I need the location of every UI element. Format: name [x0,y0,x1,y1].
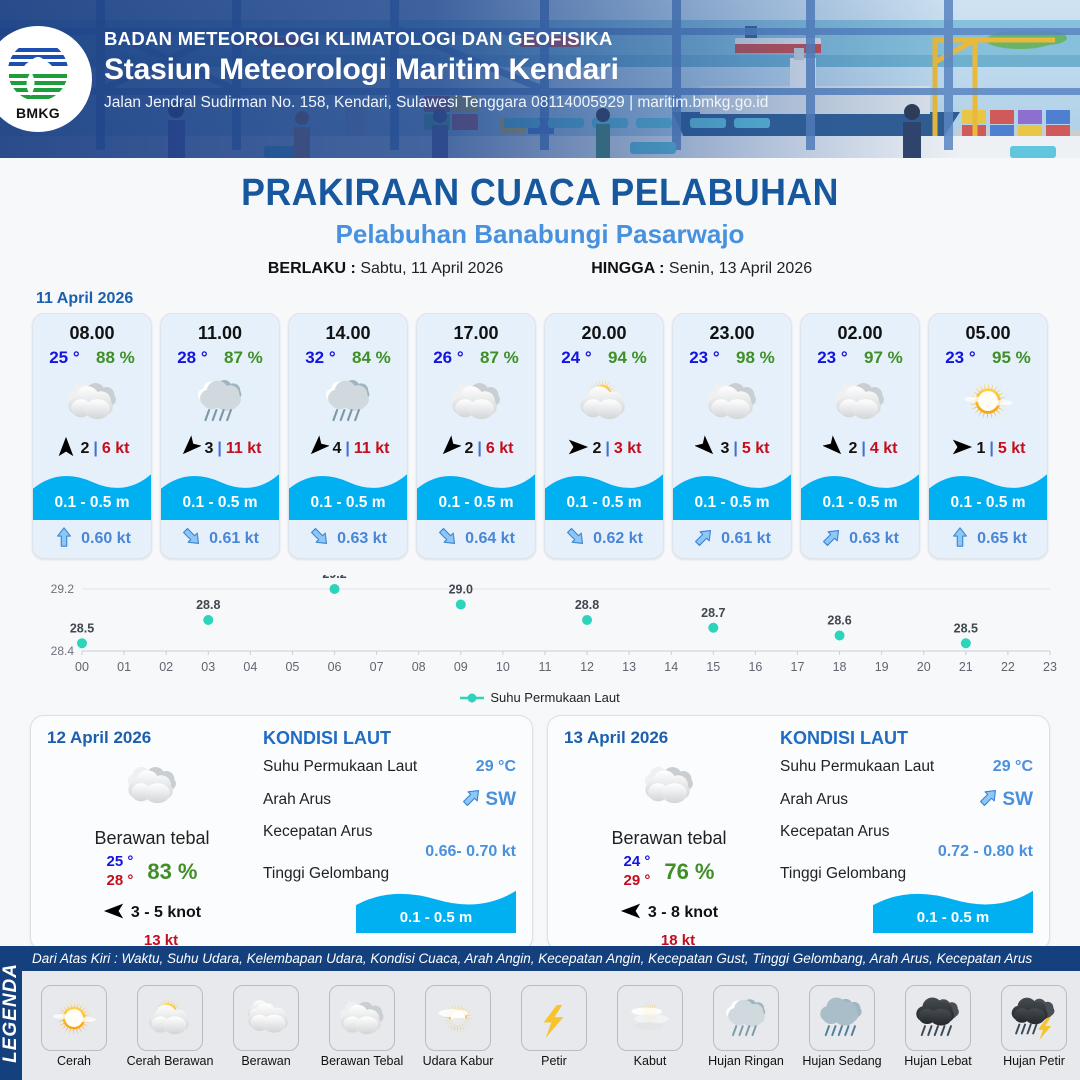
hourly-forecast-card[interactable]: 17.00 26 ° 87 % 2 | 6 kt 0.1 - 0.5 m 0.6… [416,313,536,559]
daily-wind-speed: 3 - 5 knot [131,904,201,922]
sea-row-wave: Tinggi Gelombang 0.1 - 0.5 m [263,865,516,933]
chart-x-tick-label: 22 [1001,660,1015,674]
card-wind-row: 1 | 5 kt [929,432,1047,466]
chart-data-point [708,623,718,633]
legend-item-label: Kabut [604,1054,696,1068]
hingga-value: Senin, 13 April 2026 [669,260,812,277]
card-wind-row: 2 | 6 kt [33,432,151,466]
current-direction-arrow-icon [949,525,971,549]
kabut-icon [624,992,676,1044]
card-weather-icon-slot [545,370,663,432]
card-current-row: 0.65 kt [929,520,1047,558]
legend-item: Cerah Berawan [124,985,216,1068]
daily-wind-arrow-slot [103,899,125,928]
card-current-speed: 0.63 kt [337,530,387,548]
petir-icon [528,992,580,1044]
hourly-forecast-card[interactable]: 23.00 23 ° 98 % 3 | 5 kt 0.1 - 0.5 m 0.6… [672,313,792,559]
sea-label-sst: Suhu Permukaan Laut [263,758,417,776]
legend-bar: LEGENDA Dari Atas Kiri : Waktu, Suhu Uda… [0,946,1080,1080]
sea-row-current-dir: Arah Arus SW [780,785,1033,814]
legend-item: Hujan Petir [988,985,1080,1068]
daily-forecast-panel[interactable]: 13 April 2026 Berawan tebal 24 ° 29 ° 76… [547,715,1050,951]
legend-icon-box [425,985,491,1051]
berawan-tebal-icon [123,756,181,814]
card-humidity: 88 % [96,348,135,368]
daily-weather-icon-slot [564,754,774,816]
card-wind-speed: 1 [977,440,986,458]
card-current-row: 0.63 kt [801,520,919,558]
card-wave-block: 0.1 - 0.5 m [801,466,919,520]
legend-icon-box [329,985,395,1051]
chart-data-point [456,600,466,610]
card-wave-block: 0.1 - 0.5 m [289,466,407,520]
card-current-speed: 0.61 kt [721,530,771,548]
card-wind-speed: 3 [205,440,214,458]
chart-data-point [203,615,213,625]
chart-x-tick-label: 10 [496,660,510,674]
card-weather-icon-slot [161,370,279,432]
sea-label-current-dir: Arah Arus [780,791,848,809]
chart-x-tick-label: 16 [748,660,762,674]
card-wind-separator: | [345,440,349,458]
chart-data-point [330,584,340,594]
card-weather-icon-slot [289,370,407,432]
legend-icon-box [713,985,779,1051]
berlaku-label: BERLAKU : [268,260,356,277]
berawan-tebal-icon [336,992,388,1044]
forecast-title-block: PRAKIRAAN CUACA PELABUHAN Pelabuhan Bana… [0,158,1080,278]
card-temperature: 23 ° [689,348,719,368]
hujan-lebat-icon [912,992,964,1044]
current-direction-arrow-icon [565,525,587,549]
chart-x-tick-label: 03 [201,660,215,674]
hujan-petir-icon [1008,992,1060,1044]
sea-row-sst: Suhu Permukaan Laut 29 °C [263,758,516,776]
card-gust: 11 kt [354,440,390,458]
legend-item-label: Cerah [28,1054,120,1068]
card-current-arrow-slot [565,525,587,554]
hourly-forecast-card[interactable]: 11.00 28 ° 87 % 3 | 11 kt 0.1 - 0.5 m 0.… [160,313,280,559]
page-subtitle: Pelabuhan Banabungi Pasarwajo [0,219,1080,250]
card-wave-height: 0.1 - 0.5 m [673,494,791,512]
sea-row-sst: Suhu Permukaan Laut 29 °C [780,758,1033,776]
wind-direction-arrow-icon [695,435,717,459]
wind-direction-arrow-icon [307,435,329,459]
card-wave-height: 0.1 - 0.5 m [801,494,919,512]
chart-point-label: 28.8 [575,598,599,612]
card-gust: 3 kt [614,440,642,458]
daily-panel-right: KONDISI LAUT Suhu Permukaan Laut 29 °C A… [774,728,1033,940]
sea-wave-block: 0.1 - 0.5 m [873,885,1033,933]
chart-legend-marker-icon [460,693,484,703]
wind-direction-arrow-icon [103,899,125,923]
card-wind-separator: | [477,440,481,458]
berawan-tebal-icon [640,756,698,814]
card-wind-row: 4 | 11 kt [289,432,407,466]
legend-icon-box [617,985,683,1051]
card-wave-height: 0.1 - 0.5 m [33,494,151,512]
sea-label-current-speed: Kecepatan Arus [263,823,516,841]
card-time: 23.00 [673,314,791,344]
hourly-forecast-card[interactable]: 05.00 23 ° 95 % 1 | 5 kt 0.1 - 0.5 m 0.6… [928,313,1048,559]
card-temperature: 25 ° [49,348,79,368]
legend-item-label: Udara Kabur [412,1054,504,1068]
sea-row-current-speed: Kecepatan Arus 0.72 - 0.80 kt [780,823,1033,861]
sea-current-arrow-slot [461,785,483,814]
card-wind-separator: | [861,440,865,458]
card-current-row: 0.61 kt [673,520,791,558]
card-current-speed: 0.65 kt [977,530,1027,548]
card-wind-arrow-slot [179,435,201,464]
chart-x-tick-label: 23 [1043,660,1057,674]
daily-temps: 24 ° 29 ° [623,853,650,891]
card-humidity: 87 % [224,348,263,368]
berawan-tebal-icon [447,372,505,430]
legend-item: Hujan Sedang [796,985,888,1068]
card-current-arrow-slot [693,525,715,554]
hourly-forecast-card[interactable]: 14.00 32 ° 84 % 4 | 11 kt 0.1 - 0.5 m 0.… [288,313,408,559]
current-direction-arrow-icon [978,785,1000,809]
sea-label-sst: Suhu Permukaan Laut [780,758,934,776]
chart-x-tick-label: 15 [706,660,720,674]
card-wind-arrow-slot [55,435,77,464]
card-time: 05.00 [929,314,1047,344]
chart-legend: Suhu Permukaan Laut [0,690,1080,705]
legend-items-row: Cerah Cerah Berawan Berawan Berawan Teba… [22,971,1080,1080]
cerah-icon [959,372,1017,430]
chart-y-tick-label: 28.4 [51,644,75,658]
chart-x-tick-label: 00 [75,660,89,674]
wind-direction-arrow-icon [439,435,461,459]
card-weather-icon-slot [33,370,151,432]
card-wind-separator: | [217,440,221,458]
sst-chart: 28.429.200010203040506070809101112131415… [20,575,1060,685]
sea-condition-title: KONDISI LAUT [263,728,516,749]
daily-panel-right: KONDISI LAUT Suhu Permukaan Laut 29 °C A… [257,728,516,940]
card-wave-height: 0.1 - 0.5 m [417,494,535,512]
current-direction-arrow-icon [181,525,203,549]
card-humidity: 94 % [608,348,647,368]
current-direction-arrow-icon [309,525,331,549]
card-wind-separator: | [733,440,737,458]
card-wind-row: 2 | 3 kt [545,432,663,466]
chart-x-tick-label: 02 [159,660,173,674]
legend-item: Berawan [220,985,312,1068]
hourly-forecast-card[interactable]: 02.00 23 ° 97 % 2 | 4 kt 0.1 - 0.5 m 0.6… [800,313,920,559]
chart-x-tick-label: 18 [833,660,847,674]
chart-x-tick-label: 14 [664,660,678,674]
hujan-ringan-icon [191,372,249,430]
card-weather-icon-slot [673,370,791,432]
card-gust: 11 kt [226,440,262,458]
daily-date: 12 April 2026 [47,728,257,748]
card-wave-block: 0.1 - 0.5 m [673,466,791,520]
card-current-speed: 0.63 kt [849,530,899,548]
card-current-row: 0.62 kt [545,520,663,558]
card-wave-height: 0.1 - 0.5 m [545,494,663,512]
legend-item-label: Hujan Lebat [892,1054,984,1068]
daily-temp-max: 28 ° [106,872,133,891]
sea-row-current-dir: Arah Arus SW [263,785,516,814]
hourly-forecast-card[interactable]: 20.00 24 ° 94 % 2 | 3 kt 0.1 - 0.5 m 0.6… [544,313,664,559]
sea-value-current-speed: 0.72 - 0.80 kt [780,843,1033,861]
sea-value-current-dir: SW [485,789,516,811]
current-direction-arrow-icon [53,525,75,549]
chart-point-label: 28.6 [827,614,851,628]
sea-value-sst: 29 °C [476,758,516,776]
card-wind-arrow-slot [951,435,973,464]
sea-label-wave: Tinggi Gelombang [780,865,1033,883]
berawan-icon [240,992,292,1044]
card-wind-speed: 2 [593,440,602,458]
daily-panel-left: 12 April 2026 Berawan tebal 25 ° 28 ° 83… [47,728,257,940]
chart-x-tick-label: 09 [454,660,468,674]
card-gust: 6 kt [486,440,514,458]
legend-item-label: Hujan Petir [988,1054,1080,1068]
card-wind-separator: | [93,440,97,458]
card-wind-separator: | [605,440,609,458]
sea-wave-block: 0.1 - 0.5 m [356,885,516,933]
page-header: BMKG BADAN METEOROLOGI KLIMATOLOGI DAN G… [0,0,1080,158]
card-temperature: 24 ° [561,348,591,368]
card-time: 14.00 [289,314,407,344]
legend-side-label: LEGENDA [0,946,22,1080]
legend-item: Petir [508,985,600,1068]
udara-kabur-icon [432,992,484,1044]
hourly-forecast-card[interactable]: 08.00 25 ° 88 % 2 | 6 kt 0.1 - 0.5 m 0.6… [32,313,152,559]
berawan-tebal-icon [703,372,761,430]
card-current-arrow-slot [53,525,75,554]
card-weather-icon-slot [417,370,535,432]
legend-icon-box [137,985,203,1051]
legend-item-label: Berawan Tebal [316,1054,408,1068]
card-gust: 6 kt [102,440,130,458]
card-wind-arrow-slot [567,435,589,464]
card-wind-speed: 3 [721,440,730,458]
card-wind-speed: 4 [333,440,342,458]
legend-icon-box [905,985,971,1051]
cerah-berawan-icon [575,372,633,430]
card-temperature: 32 ° [305,348,335,368]
card-wind-row: 3 | 11 kt [161,432,279,466]
daily-wind-speed: 3 - 8 knot [648,904,718,922]
legend-item: Berawan Tebal [316,985,408,1068]
chart-x-tick-label: 13 [622,660,636,674]
current-direction-arrow-icon [461,785,483,809]
card-wind-arrow-slot [695,435,717,464]
card-gust: 5 kt [998,440,1026,458]
chart-data-point [961,638,971,648]
card-wave-block: 0.1 - 0.5 m [545,466,663,520]
card-wave-block: 0.1 - 0.5 m [417,466,535,520]
card-wave-block: 0.1 - 0.5 m [929,466,1047,520]
card-wind-arrow-slot [823,435,845,464]
card-current-row: 0.63 kt [289,520,407,558]
validity-row: BERLAKU : Sabtu, 11 April 2026 HINGGA : … [0,260,1080,278]
card-temperature: 28 ° [177,348,207,368]
card-gust: 4 kt [870,440,898,458]
chart-x-tick-label: 17 [791,660,805,674]
legend-icon-box [521,985,587,1051]
daily-humidity: 76 % [664,859,714,885]
chart-x-tick-label: 04 [243,660,257,674]
chart-point-label: 29.2 [322,575,346,581]
daily-date: 13 April 2026 [564,728,774,748]
card-humidity: 84 % [352,348,391,368]
berlaku-value: Sabtu, 11 April 2026 [360,260,503,277]
card-current-row: 0.60 kt [33,520,151,558]
card-wave-height: 0.1 - 0.5 m [929,494,1047,512]
chart-x-tick-label: 21 [959,660,973,674]
card-wind-speed: 2 [849,440,858,458]
card-time: 08.00 [33,314,151,344]
card-humidity: 98 % [736,348,775,368]
chart-x-tick-label: 07 [370,660,384,674]
chart-x-tick-label: 05 [285,660,299,674]
page-title: PRAKIRAAN CUACA PELABUHAN [32,172,1047,215]
card-gust: 5 kt [742,440,770,458]
daily-panels-row: 12 April 2026 Berawan tebal 25 ° 28 ° 83… [0,705,1080,951]
legend-note: Dari Atas Kiri : Waktu, Suhu Udara, Kele… [22,946,1080,971]
chart-data-point [582,615,592,625]
card-current-row: 0.64 kt [417,520,535,558]
legend-item-label: Petir [508,1054,600,1068]
card-wind-speed: 2 [465,440,474,458]
chart-x-tick-label: 11 [538,660,551,674]
card-wind-arrow-slot [307,435,329,464]
card-current-speed: 0.60 kt [81,530,131,548]
hujan-ringan-icon [319,372,377,430]
card-weather-icon-slot [801,370,919,432]
station-name: Stasiun Meteorologi Maritim Kendari [104,53,768,87]
daily-condition: Berawan tebal [564,828,774,849]
card-current-arrow-slot [309,525,331,554]
card-current-arrow-slot [949,525,971,554]
legend-item-label: Hujan Ringan [700,1054,792,1068]
daily-wind-row: 3 - 5 knot [47,899,257,928]
card-time: 20.00 [545,314,663,344]
card-humidity: 87 % [480,348,519,368]
chart-point-label: 28.5 [70,621,94,635]
card-current-arrow-slot [437,525,459,554]
sea-value-current-dir-group: SW [461,785,516,814]
card-wave-block: 0.1 - 0.5 m [33,466,151,520]
chart-point-label: 29.0 [449,583,473,597]
card-wind-arrow-slot [439,435,461,464]
card-wave-height: 0.1 - 0.5 m [161,494,279,512]
hujan-sedang-icon [816,992,868,1044]
daily-temp-min: 25 ° [106,853,133,872]
card-current-speed: 0.64 kt [465,530,515,548]
chart-point-label: 28.5 [954,621,978,635]
cerah-berawan-icon [144,992,196,1044]
sst-chart-svg: 28.429.200010203040506070809101112131415… [20,575,1060,685]
legend-item: Hujan Ringan [700,985,792,1068]
sea-label-current-dir: Arah Arus [263,791,331,809]
hujan-ringan-icon [720,992,772,1044]
legend-item-label: Berawan [220,1054,312,1068]
wind-direction-arrow-icon [179,435,201,459]
chart-x-tick-label: 08 [412,660,426,674]
agency-name: BADAN METEOROLOGI KLIMATOLOGI DAN GEOFIS… [104,28,768,50]
current-direction-arrow-icon [821,525,843,549]
legend-main: Dari Atas Kiri : Waktu, Suhu Udara, Kele… [22,946,1080,1080]
card-current-arrow-slot [181,525,203,554]
sea-condition-title: KONDISI LAUT [780,728,1033,749]
chart-y-tick-label: 29.2 [51,582,75,596]
card-time: 02.00 [801,314,919,344]
wind-direction-arrow-icon [951,435,973,459]
cerah-icon [48,992,100,1044]
sea-current-arrow-slot [978,785,1000,814]
card-wind-speed: 2 [81,440,90,458]
station-address: Jalan Jendral Sudirman No. 158, Kendari,… [104,94,768,112]
sea-value-current-dir: SW [1002,789,1033,811]
daily-temps: 25 ° 28 ° [106,853,133,891]
legend-item: Udara Kabur [412,985,504,1068]
daily-temp-hum-row: 24 ° 29 ° 76 % [564,853,774,891]
wind-direction-arrow-icon [620,899,642,923]
chart-data-point [835,631,845,641]
card-wind-separator: | [989,440,993,458]
bmkg-logo-text: BMKG [1,105,75,121]
hingga-group: HINGGA : Senin, 13 April 2026 [591,260,812,278]
card-wind-row: 2 | 4 kt [801,432,919,466]
legend-icon-box [1001,985,1067,1051]
sea-value-sst: 29 °C [993,758,1033,776]
chart-x-tick-label: 20 [917,660,931,674]
legend-side-text: LEGENDA [0,963,22,1063]
card-temperature: 26 ° [433,348,463,368]
berlaku-group: BERLAKU : Sabtu, 11 April 2026 [268,260,503,278]
wind-direction-arrow-icon [823,435,845,459]
card-humidity: 97 % [864,348,903,368]
daily-weather-icon-slot [47,754,257,816]
legend-item-label: Cerah Berawan [124,1054,216,1068]
daily-temp-hum-row: 25 ° 28 ° 83 % [47,853,257,891]
sea-label-current-speed: Kecepatan Arus [780,823,1033,841]
daily-forecast-panel[interactable]: 12 April 2026 Berawan tebal 25 ° 28 ° 83… [30,715,533,951]
daily-temp-min: 24 ° [623,853,650,872]
bmkg-logo-icon [5,38,71,104]
chart-point-label: 28.7 [701,606,725,620]
legend-item: Kabut [604,985,696,1068]
card-current-arrow-slot [821,525,843,554]
sea-value-wave: 0.1 - 0.5 m [356,909,516,926]
legend-item: Hujan Lebat [892,985,984,1068]
daily-temp-max: 29 ° [623,872,650,891]
card-weather-icon-slot [929,370,1047,432]
card-wind-row: 2 | 6 kt [417,432,535,466]
hourly-date-label: 11 April 2026 [36,290,1080,308]
legend-item: Cerah [28,985,120,1068]
legend-item-label: Hujan Sedang [796,1054,888,1068]
sea-row-wave: Tinggi Gelombang 0.1 - 0.5 m [780,865,1033,933]
current-direction-arrow-icon [437,525,459,549]
wind-direction-arrow-icon [55,435,77,459]
sea-row-current-speed: Kecepatan Arus 0.66- 0.70 kt [263,823,516,861]
chart-x-tick-label: 01 [117,660,131,674]
card-temperature: 23 ° [817,348,847,368]
card-current-speed: 0.61 kt [209,530,259,548]
card-time: 17.00 [417,314,535,344]
sea-value-current-speed: 0.66- 0.70 kt [263,843,516,861]
daily-wind-row: 3 - 8 knot [564,899,774,928]
daily-panel-left: 13 April 2026 Berawan tebal 24 ° 29 ° 76… [564,728,774,940]
chart-point-label: 28.8 [196,598,220,612]
hourly-cards-row: 08.00 25 ° 88 % 2 | 6 kt 0.1 - 0.5 m 0.6… [0,313,1080,559]
card-time: 11.00 [161,314,279,344]
